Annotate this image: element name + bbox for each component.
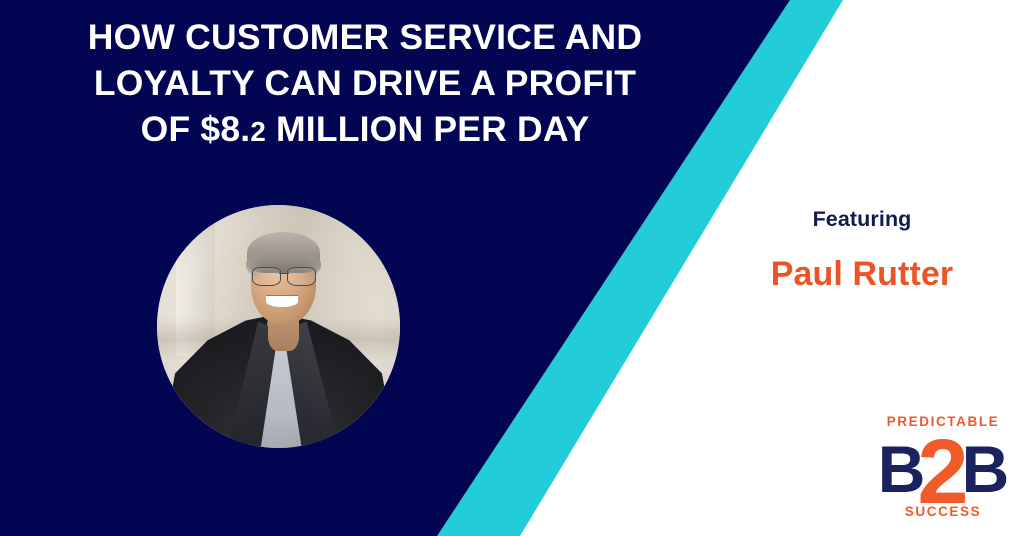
brand-logo: PREDICTABLE B2B SUCCESS <box>872 414 1014 530</box>
episode-title-amount-suffix: MILLION PER DAY <box>266 109 589 149</box>
featuring-block: Featuring Paul Rutter <box>700 206 1024 294</box>
featuring-label: Featuring <box>700 206 1024 232</box>
episode-title-line-2: LOYALTY CAN DRIVE A PROFIT <box>40 60 690 106</box>
episode-title-line-3: OF $8.2 MILLION PER DAY <box>40 106 690 155</box>
episode-title-amount-decimal: 2 <box>250 116 266 147</box>
brand-logo-wordmark: B2B <box>872 430 1014 508</box>
guest-photo <box>157 205 400 448</box>
guest-avatar <box>157 205 400 448</box>
episode-title: HOW CUSTOMER SERVICE AND LOYALTY CAN DRI… <box>40 14 690 155</box>
episode-title-amount-prefix: OF $8. <box>141 109 251 149</box>
episode-cover-card: HOW CUSTOMER SERVICE AND LOYALTY CAN DRI… <box>0 0 1024 536</box>
episode-title-line-1: HOW CUSTOMER SERVICE AND <box>40 14 690 60</box>
photo-vignette <box>157 205 400 448</box>
guest-name: Paul Rutter <box>700 254 1024 294</box>
brand-logo-two: 2 <box>917 421 968 523</box>
